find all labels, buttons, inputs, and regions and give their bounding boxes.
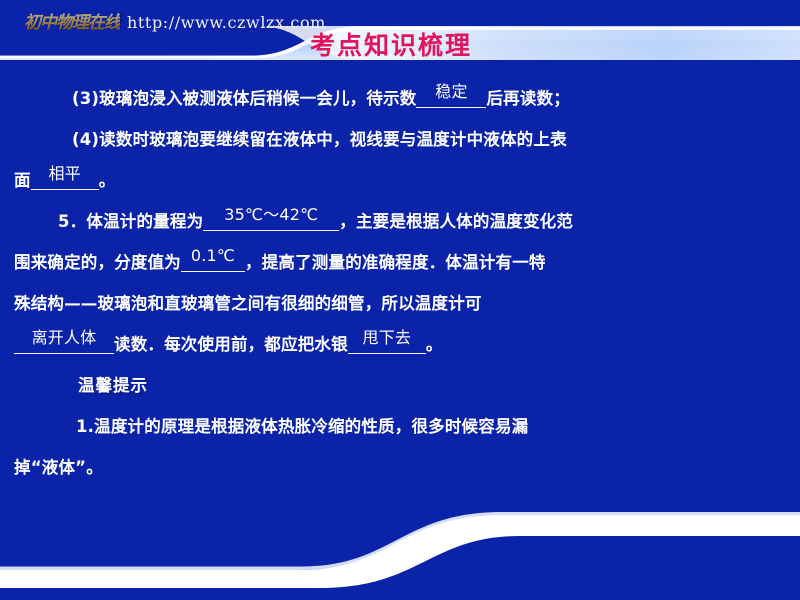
blank-level-answer: 相平 xyxy=(33,166,97,182)
site-url-text: http://www.czwlzx.com xyxy=(127,13,326,32)
slide-header: 初中物理在线 http://www.czwlzx.com 考点知识梳理 xyxy=(0,0,800,72)
slide-body: (3)玻璃泡浸入被测液体后稍候一会儿，待示数稳定后再读数； (4)读数时玻璃泡要… xyxy=(0,78,800,488)
tip-line-2-text: 掉“液体”。 xyxy=(14,458,103,477)
text-line-7: 围来确定的，分度值为0.1℃，提高了测量的准确程度．体温计有一特 xyxy=(0,242,800,283)
line8-text: 殊结构——玻璃泡和直玻璃管之间有很细的细管，所以温度计可 xyxy=(14,294,482,313)
blank-stability: 稳定 xyxy=(416,91,486,108)
blank-shake-down-answer: 甩下去 xyxy=(350,330,424,346)
blank-thermometer-range-answer: 35℃～42℃ xyxy=(205,207,337,223)
line7-text-b: ，提高了测量的准确程度．体温计有一特 xyxy=(245,253,546,272)
blank-leave-body-answer: 离开人体 xyxy=(16,330,112,346)
line9-text-b: 。 xyxy=(426,335,443,354)
line6-text-b: ，主要是根据人体的温度变化范 xyxy=(339,212,573,231)
blank-scale-division-answer: 0.1℃ xyxy=(183,248,243,264)
line9-text-a: 读数．每次使用前，都应把水银 xyxy=(114,335,348,354)
text-line-6: 5．体温计的量程为35℃～42℃，主要是根据人体的温度变化范 xyxy=(0,201,800,242)
slide-canvas: 初中物理在线 http://www.czwlzx.com 考点知识梳理 (3)玻… xyxy=(0,0,800,600)
line7-text-a: 围来确定的，分度值为 xyxy=(14,253,181,272)
line5-text-a: 面 xyxy=(14,171,31,190)
blank-shake-down: 甩下去 xyxy=(348,337,426,354)
text-line-4: (4)读数时玻璃泡要继续留在液体中，视线要与温度计中液体的上表 xyxy=(0,119,800,160)
tip-heading: 温馨提示 xyxy=(0,365,800,406)
text-line-9: 离开人体读数．每次使用前，都应把水银甩下去。 xyxy=(0,324,800,365)
line4-text: (4)读数时玻璃泡要继续留在液体中，视线要与温度计中液体的上表 xyxy=(72,130,567,149)
tip-line-2: 掉“液体”。 xyxy=(0,447,800,488)
site-logo: 初中物理在线 http://www.czwlzx.com xyxy=(24,8,326,33)
blank-thermometer-range: 35℃～42℃ xyxy=(203,214,339,231)
site-logo-text: 初中物理在线 xyxy=(24,8,120,33)
line3-text-a: (3)玻璃泡浸入被测液体后稍候一会儿，待示数 xyxy=(72,89,416,108)
blank-scale-division: 0.1℃ xyxy=(181,255,245,272)
line5-text-b: 。 xyxy=(99,171,116,190)
text-line-8: 殊结构——玻璃泡和直玻璃管之间有很细的细管，所以温度计可 xyxy=(0,283,800,324)
blank-leave-body: 离开人体 xyxy=(14,337,114,354)
tip-line-1: 1.温度计的原理是根据液体热胀冷缩的性质，很多时候容易漏 xyxy=(0,406,800,447)
footer-swoosh-graphic xyxy=(0,490,800,600)
page-title: 考点知识梳理 xyxy=(310,26,472,62)
text-line-3: (3)玻璃泡浸入被测液体后稍候一会儿，待示数稳定后再读数； xyxy=(0,78,800,119)
text-line-5: 面相平。 xyxy=(0,160,800,201)
line3-text-b: 后再读数； xyxy=(486,89,570,108)
slide-footer xyxy=(0,490,800,600)
tip-line-1-text: 1.温度计的原理是根据液体热胀冷缩的性质，很多时候容易漏 xyxy=(76,417,528,436)
line6-text-a: 5．体温计的量程为 xyxy=(58,212,203,231)
blank-level: 相平 xyxy=(31,173,99,190)
blank-stability-answer: 稳定 xyxy=(418,84,484,100)
